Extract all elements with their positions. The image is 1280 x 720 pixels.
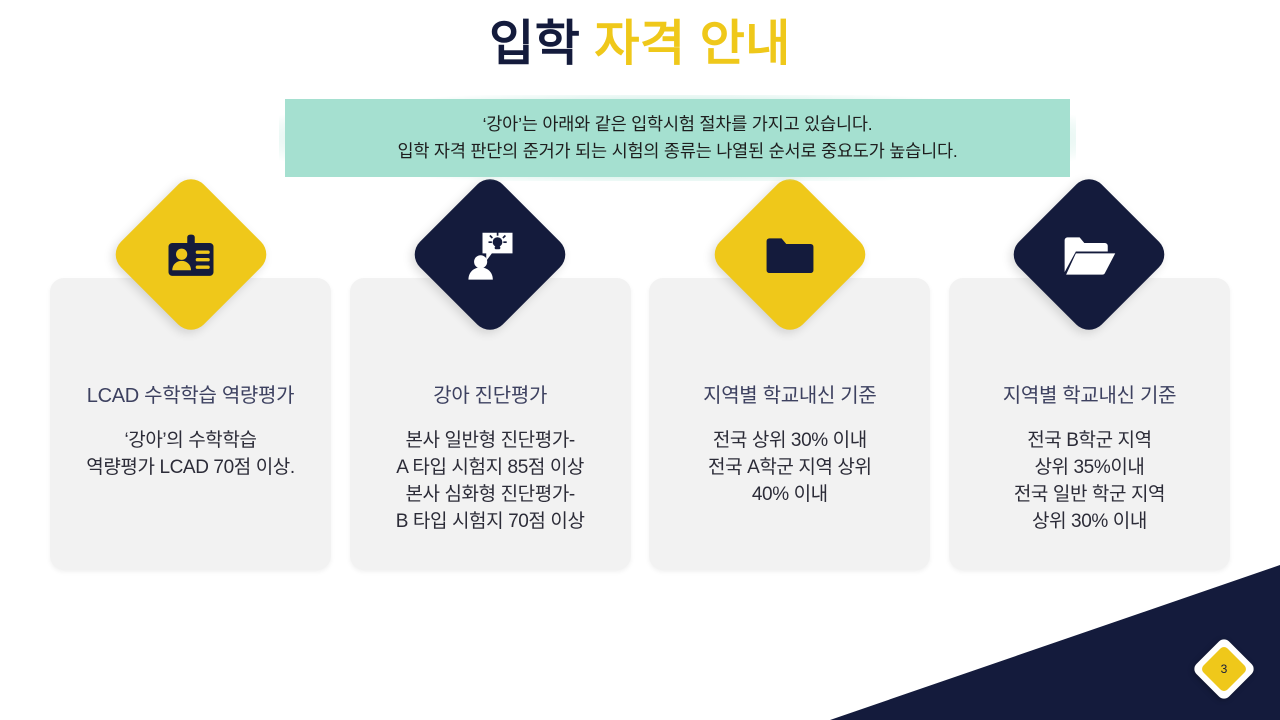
criteria-card-1-badge	[108, 172, 273, 337]
criteria-card-2-body-line-2: A 타입 시험지 85점 이상	[396, 455, 585, 482]
criteria-card-3-body-line-3: 40% 이내	[708, 482, 872, 509]
subtitle-line-1: ‘강아’는 아래와 같은 입학시험 절차를 가지고 있습니다.	[483, 111, 873, 138]
criteria-card-4-heading: 지역별 학교내신 기준	[1003, 384, 1176, 408]
criteria-card-4[interactable]: 지역별 학교내신 기준 전국 B학군 지역 상위 35%이내 전국 일반 학군 …	[949, 278, 1230, 570]
criteria-card-3-badge	[707, 172, 872, 337]
page-number-badge: 3	[1201, 646, 1247, 692]
criteria-card-4-body-line-1: 전국 B학군 지역	[1014, 428, 1165, 455]
page-title: 입학 자격 안내	[0, 16, 1280, 72]
criteria-card-3-body-line-1: 전국 상위 30% 이내	[708, 428, 872, 455]
criteria-card-1-heading: LCAD 수학학습 역량평가	[87, 384, 294, 408]
criteria-card-2-body-line-1: 본사 일반형 진단평가-	[396, 428, 585, 455]
criteria-card-1-body-line-1: ‘강아’의 수학학습	[86, 428, 295, 455]
criteria-card-1-body: ‘강아’의 수학학습 역량평가 LCAD 70점 이상.	[86, 428, 295, 482]
criteria-card-2-body-line-4: B 타입 시험지 70점 이상	[396, 509, 585, 536]
person-idea-icon	[458, 223, 522, 287]
criteria-card-4-body: 전국 B학군 지역 상위 35%이내 전국 일반 학군 지역 상위 30% 이내	[1014, 428, 1165, 536]
criteria-card-2-body-line-3: 본사 심화형 진단평가-	[396, 482, 585, 509]
criteria-card-2-heading: 강아 진단평가	[433, 384, 547, 408]
criteria-card-3-body: 전국 상위 30% 이내 전국 A학군 지역 상위 40% 이내	[708, 428, 872, 509]
page-number-value: 3	[1221, 662, 1228, 676]
criteria-card-2-badge	[407, 172, 572, 337]
criteria-card-3-body-line-2: 전국 A학군 지역 상위	[708, 455, 872, 482]
folder-closed-icon	[758, 223, 822, 287]
title-yellow-part: 자격 안내	[594, 17, 790, 71]
subtitle-banner: ‘강아’는 아래와 같은 입학시험 절차를 가지고 있습니다. 입학 자격 판단…	[285, 99, 1070, 177]
criteria-card-1[interactable]: LCAD 수학학습 역량평가 ‘강아’의 수학학습 역량평가 LCAD 70점 …	[50, 278, 331, 570]
criteria-card-3-heading: 지역별 학교내신 기준	[703, 384, 876, 408]
criteria-card-4-badge	[1007, 172, 1172, 337]
criteria-card-3[interactable]: 지역별 학교내신 기준 전국 상위 30% 이내 전국 A학군 지역 상위 40…	[649, 278, 930, 570]
criteria-card-row: LCAD 수학학습 역량평가 ‘강아’의 수학학습 역량평가 LCAD 70점 …	[50, 278, 1230, 570]
criteria-card-2-body: 본사 일반형 진단평가- A 타입 시험지 85점 이상 본사 심화형 진단평가…	[396, 428, 585, 536]
criteria-card-4-body-line-3: 전국 일반 학군 지역	[1014, 482, 1165, 509]
folder-open-icon	[1057, 223, 1121, 287]
title-dark-part: 입학	[489, 17, 580, 71]
subtitle-line-2: 입학 자격 판단의 준거가 되는 시험의 종류는 나열된 순서로 중요도가 높습…	[397, 138, 957, 165]
criteria-card-4-body-line-2: 상위 35%이내	[1014, 455, 1165, 482]
criteria-card-1-body-line-2: 역량평가 LCAD 70점 이상.	[86, 455, 295, 482]
id-badge-icon	[159, 223, 223, 287]
slide-canvas: 입학 자격 안내 ‘강아’는 아래와 같은 입학시험 절차를 가지고 있습니다.…	[0, 0, 1280, 720]
criteria-card-2[interactable]: 강아 진단평가 본사 일반형 진단평가- A 타입 시험지 85점 이상 본사 …	[350, 278, 631, 570]
criteria-card-4-body-line-4: 상위 30% 이내	[1014, 509, 1165, 536]
decorative-corner-triangle	[830, 565, 1280, 720]
